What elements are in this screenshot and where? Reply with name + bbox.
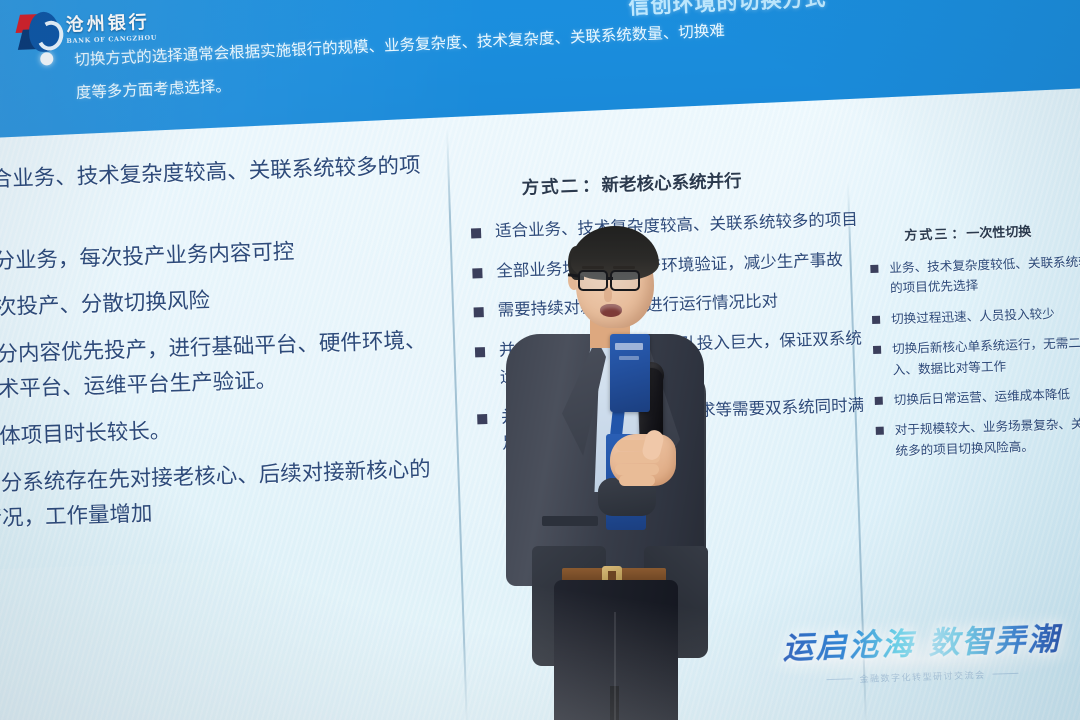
list-item: 切换过程迅速、人员投入较少 [867, 302, 1080, 331]
watermark-main-left: 运启沧海 [782, 626, 915, 666]
speaker-pocket-flap [542, 516, 598, 526]
bank-logo-text: 沧州银行 BANK OF CANGZHOU [65, 13, 157, 44]
list-item: 切换后新核心单系统运行，无需二次投入、数据比对等工作 [868, 332, 1080, 381]
list-item: 切换后日常运营、运维成本降低 [869, 383, 1080, 412]
watermark-rule-right [992, 673, 1018, 675]
lanyard-badge-upper [610, 334, 650, 412]
watermark-rule-left [827, 678, 853, 680]
list-item: 部分系统存在先对接老核心、后续对接新核心的情况，工作量增加 [0, 452, 445, 538]
bank-logo: 沧州银行 BANK OF CANGZHOU [17, 3, 169, 56]
column-one-bullets: 适合业务、技术复杂度较高、关联系统较多的项目 拆分业务，每次投产业务内容可控 多… [0, 149, 445, 539]
column-two-separator: ： [582, 176, 600, 197]
glasses-icon [578, 270, 608, 291]
event-watermark: 运启沧海数智弄潮 金融数字化转型研讨交流会 [771, 613, 1074, 709]
glasses-lens-right [610, 270, 640, 291]
glasses-bridge [607, 277, 613, 280]
list-item: 拆分业务，每次投产业务内容可控 [0, 230, 436, 281]
speaker-nose [604, 288, 612, 302]
speaker-brow-right [613, 266, 635, 269]
photo-stage: 方式一：新核心分步骤投产 适合业务、技术复杂度较高、关联系统较多的项目 拆分业务… [0, 0, 1080, 720]
list-item: 适合业务、技术复杂度较高、关联系统较多的项目 [0, 149, 435, 235]
watermark-subtitle: 金融数字化转型研讨交流会 [859, 668, 985, 685]
list-item: 整体项目时长较长。 [0, 406, 442, 457]
slide-column-one: 方式一：新核心分步骤投产 适合业务、技术复杂度较高、关联系统较多的项目 拆分业务… [0, 88, 445, 551]
slide-column-three: 方式三：一次性切换 业务、技术复杂度较低、关联系统较少的项目优先选择 切换过程迅… [864, 218, 1080, 472]
bank-name-en: BANK OF CANGZHOU [66, 34, 157, 44]
column-two-number: 方式二 [521, 177, 580, 199]
banner-body: 切换方式的选择通常会根据实施银行的规模、业务复杂度、技术复杂度、关联系统数量、切… [74, 0, 1080, 110]
column-three-title: 一次性切换 [966, 225, 1031, 242]
speaker-brow-left [582, 266, 604, 269]
watermark-main-right: 数智弄潮 [928, 621, 1061, 661]
speaker-trouser-crease [614, 612, 616, 720]
watermark-subtitle-row: 金融数字化转型研讨交流会 [772, 665, 1072, 688]
column-three-number: 方式三 [904, 227, 949, 243]
bank-logo-icon [17, 10, 62, 54]
list-item: 部分内容优先投产，进行基础平台、硬件环境、技术平台、运维平台生产验证。 [0, 324, 441, 410]
logo-swirl-shape [28, 11, 60, 52]
list-item: 对于规模较大、业务场景复杂、关联系统多的项目切换风险高。 [870, 413, 1080, 462]
column-three-bullets: 业务、技术复杂度较低、关联系统较少的项目优先选择 切换过程迅速、人员投入较少 切… [865, 251, 1080, 462]
list-item: 业务、技术复杂度较低、关联系统较少的项目优先选择 [865, 251, 1080, 300]
bank-name-cn: 沧州银行 [65, 13, 156, 34]
column-three-separator: ： [951, 227, 965, 242]
speaker-figure [498, 216, 728, 720]
list-item: 多次投产、分散切换风险 [0, 277, 438, 328]
watermark-main-text: 运启沧海数智弄潮 [771, 613, 1072, 668]
speaker-finger [615, 464, 659, 475]
speaker-finger [619, 475, 655, 486]
column-two-title: 新老核心系统并行 [601, 171, 742, 196]
speaker-mouth [600, 304, 622, 317]
